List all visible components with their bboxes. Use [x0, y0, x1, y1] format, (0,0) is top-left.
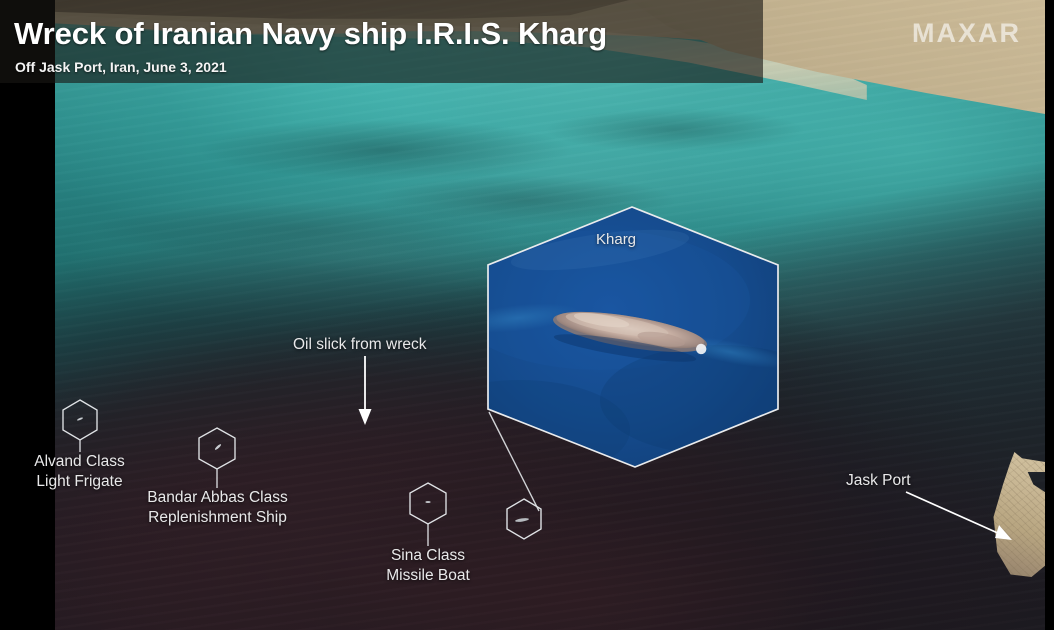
page-title: Wreck of Iranian Navy ship I.R.I.S. Khar…	[14, 16, 607, 52]
label-sina-line1: Sina Class	[391, 547, 465, 564]
inset-label-kharg: Kharg	[596, 231, 636, 248]
label-alvand-line1: Alvand Class	[34, 453, 124, 470]
water-texture-layer	[55, 0, 1045, 630]
label-bandar-line1: Bandar Abbas Class	[147, 489, 287, 506]
title-banner: Wreck of Iranian Navy ship I.R.I.S. Khar…	[0, 0, 763, 83]
label-bandar-abbas-class: Bandar Abbas Class Replenishment Ship	[140, 488, 295, 528]
label-oil-slick: Oil slick from wreck	[293, 335, 426, 355]
label-sina-class: Sina Class Missile Boat	[362, 546, 494, 586]
label-jask-port: Jask Port	[846, 471, 911, 491]
label-bandar-line2: Replenishment Ship	[140, 508, 295, 528]
page-subtitle: Off Jask Port, Iran, June 3, 2021	[15, 59, 227, 75]
label-alvand-line2: Light Frigate	[17, 472, 142, 492]
label-sina-line2: Missile Boat	[362, 566, 494, 586]
maxar-logo-watermark: MAXAR	[912, 18, 1021, 49]
satellite-image-viewer: Wreck of Iranian Navy ship I.R.I.S. Khar…	[0, 0, 1054, 630]
label-alvand-class: Alvand Class Light Frigate	[17, 452, 142, 492]
satellite-imagery	[55, 0, 1045, 630]
